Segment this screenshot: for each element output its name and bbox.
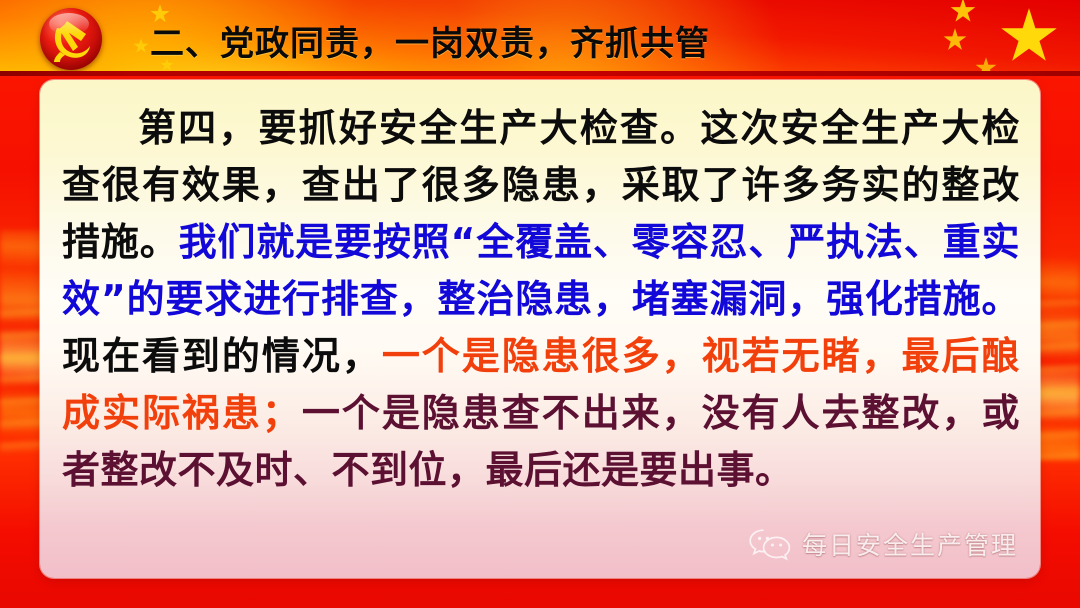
paragraph-segment-blue: 我们就是要按照“全覆盖、零容忍、严执法、重实效”的要求进行排查，整治隐患，堵塞漏… [62,220,1020,321]
star-icon [1000,8,1058,66]
party-emblem-icon [40,8,102,70]
wechat-icon [748,527,792,561]
header-underline [0,71,1080,76]
star-icon [950,0,976,24]
watermark: 每日安全生产管理 [748,526,1018,562]
header-banner: 二、党政同责，一岗双责，齐抓共管 [0,0,1080,76]
star-icon [943,28,967,52]
content-panel: 第四，要抓好安全生产大检查。这次安全生产大检查很有效果，查出了很多隐患，采取了许… [40,80,1040,578]
slide-root: 二、党政同责，一岗双责，齐抓共管 第四，要抓好安全生产大检查。这次安全生产大检查… [0,0,1080,608]
paragraph-segment-black-2: 现在看到的情况， [62,334,382,378]
watermark-text: 每日安全生产管理 [802,526,1018,562]
body-paragraph: 第四，要抓好安全生产大检查。这次安全生产大检查很有效果，查出了很多隐患，采取了许… [62,100,1020,499]
page-title: 二、党政同责，一岗双责，齐抓共管 [150,16,710,65]
